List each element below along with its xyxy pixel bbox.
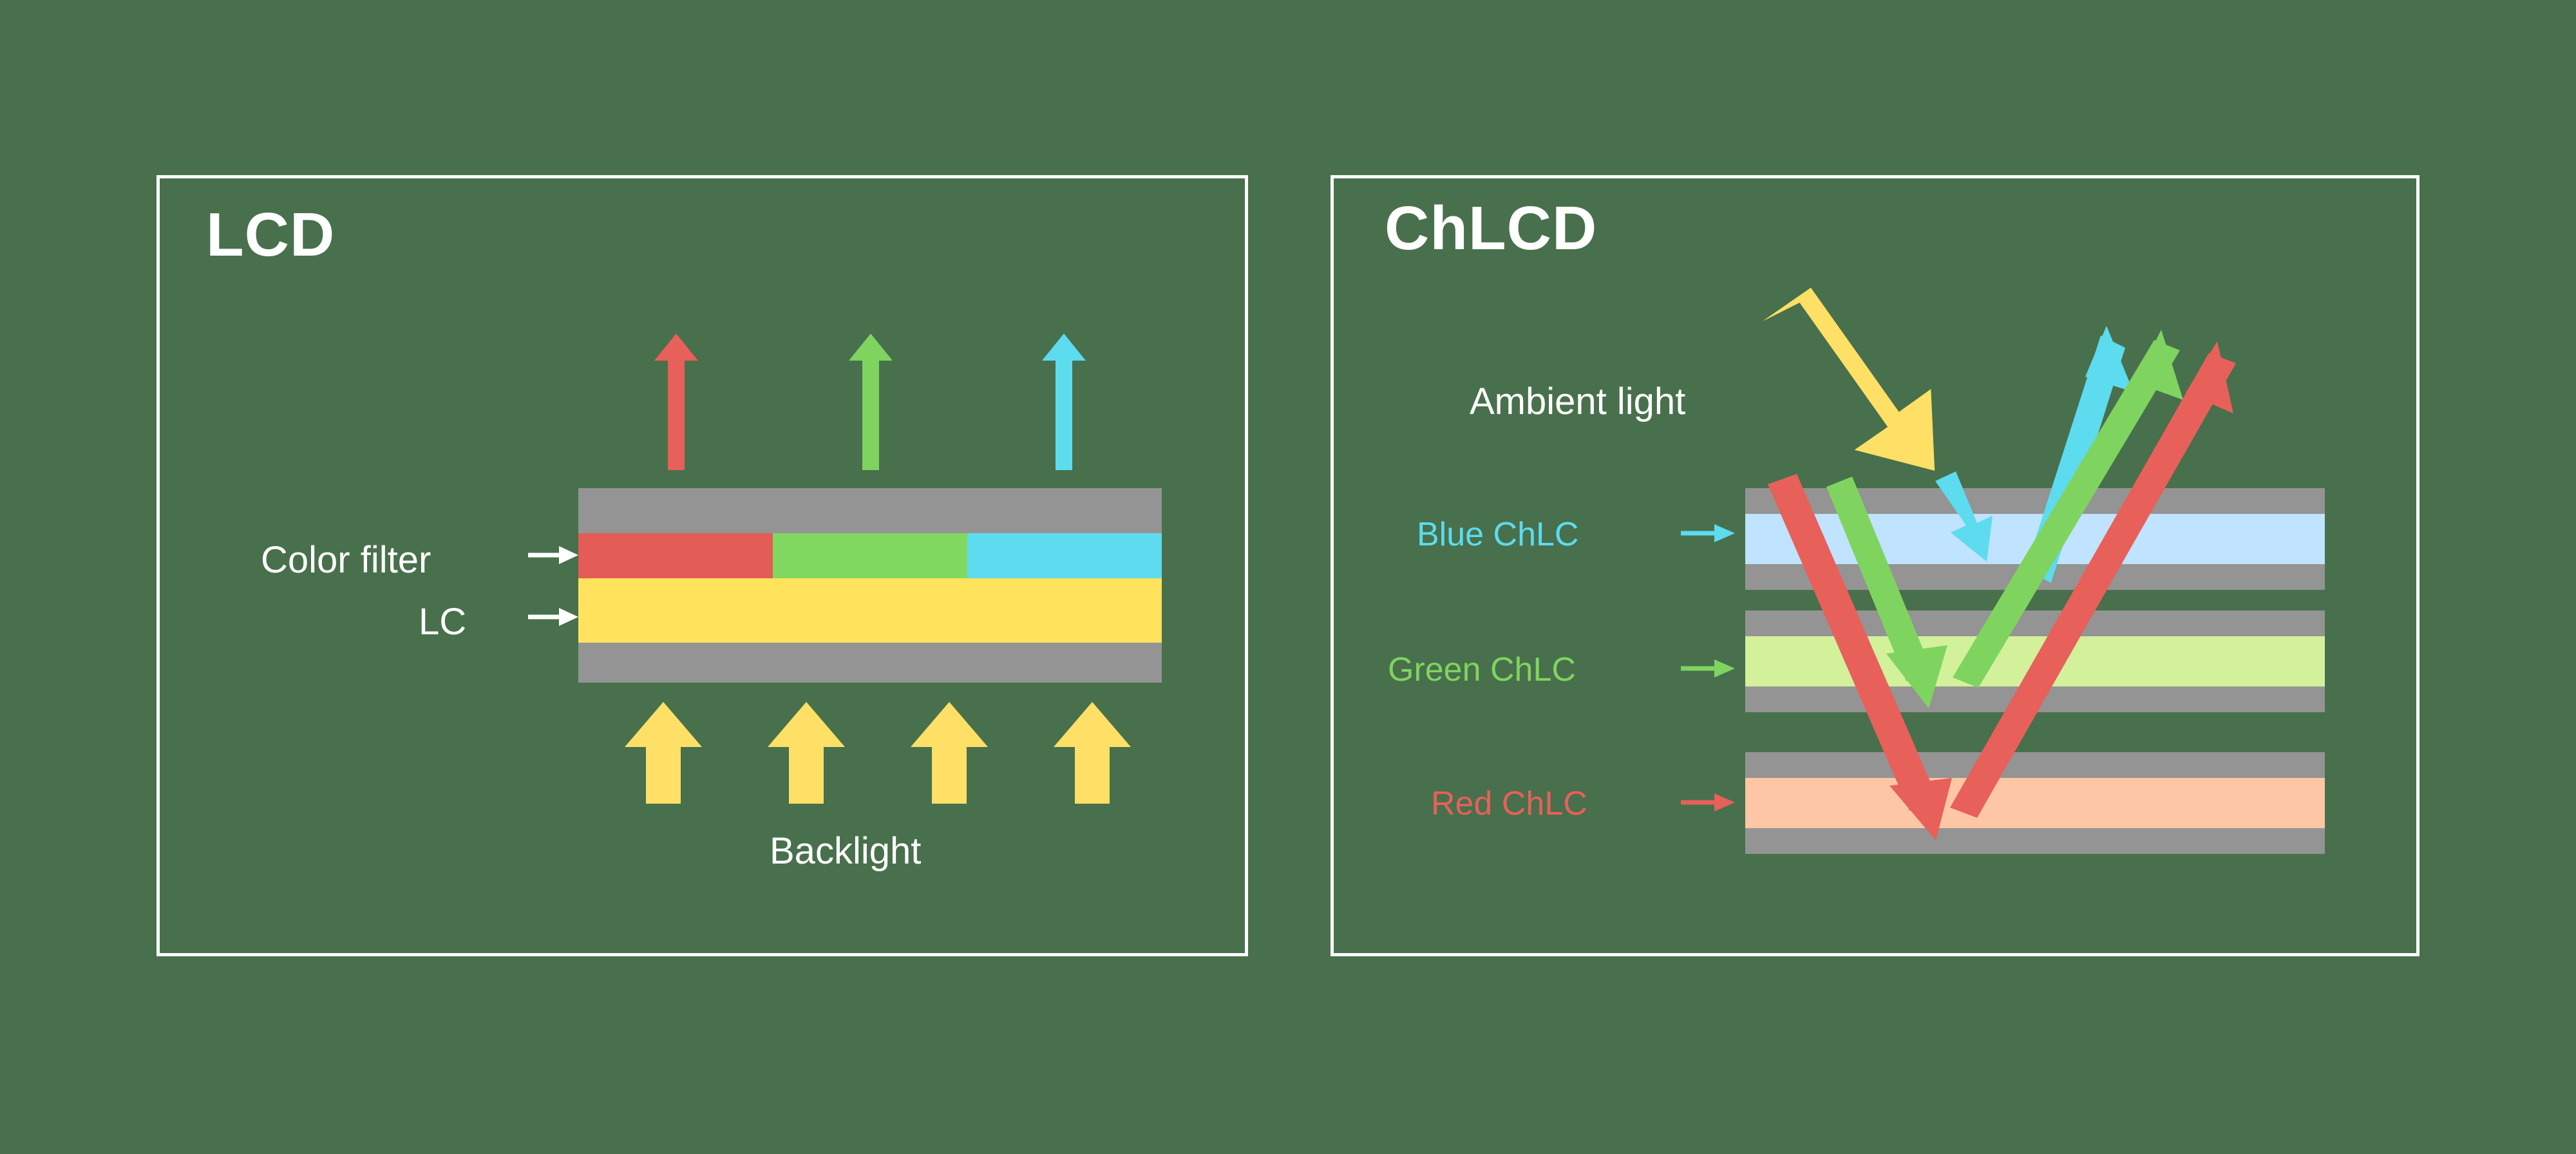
chlcd-layer-red-top-substrate xyxy=(1745,752,2325,778)
label-ambient-light: Ambient light xyxy=(1470,380,1685,423)
chlcd-layer-blue-chlc xyxy=(1745,514,2325,564)
color-filter-segment-blue xyxy=(967,533,1162,578)
label-color-filter: Color filter xyxy=(261,538,431,582)
lcd-layer-stack xyxy=(578,488,1162,683)
label-backlight: Backlight xyxy=(770,829,921,873)
chlcd-layer-green-chlc xyxy=(1745,636,2325,686)
label-red-chlc: Red ChLC xyxy=(1431,784,1587,823)
lcd-layer-liquid-crystal xyxy=(578,578,1162,643)
panel-lcd-title: LCD xyxy=(206,200,335,270)
label-blue-chlc: Blue ChLC xyxy=(1417,515,1578,554)
lcd-layer-bottom-glass xyxy=(578,643,1162,683)
chlcd-layer-red-chlc xyxy=(1745,778,2325,828)
color-filter-segment-green xyxy=(773,533,967,578)
chlcd-layer-blue-top-substrate xyxy=(1745,488,2325,514)
lcd-layer-color-filter xyxy=(578,533,1162,578)
label-green-chlc: Green ChLC xyxy=(1388,650,1576,689)
chlcd-layer-blue-bottom-substrate xyxy=(1745,564,2325,590)
chlcd-layer-red-bottom-substrate xyxy=(1745,828,2325,854)
label-lc: LC xyxy=(419,600,466,643)
panel-chlcd-title: ChLCD xyxy=(1385,193,1597,264)
chlcd-layer-green-top-substrate xyxy=(1745,610,2325,636)
chlcd-layer-green-bottom-substrate xyxy=(1745,686,2325,712)
diagram-stage: LCD Color filter LC Backlight ChLCD Ambi… xyxy=(0,0,2576,1154)
chlcd-layer-stack xyxy=(1745,488,2325,875)
lcd-layer-top-glass xyxy=(578,488,1162,533)
color-filter-segment-red xyxy=(578,533,773,578)
